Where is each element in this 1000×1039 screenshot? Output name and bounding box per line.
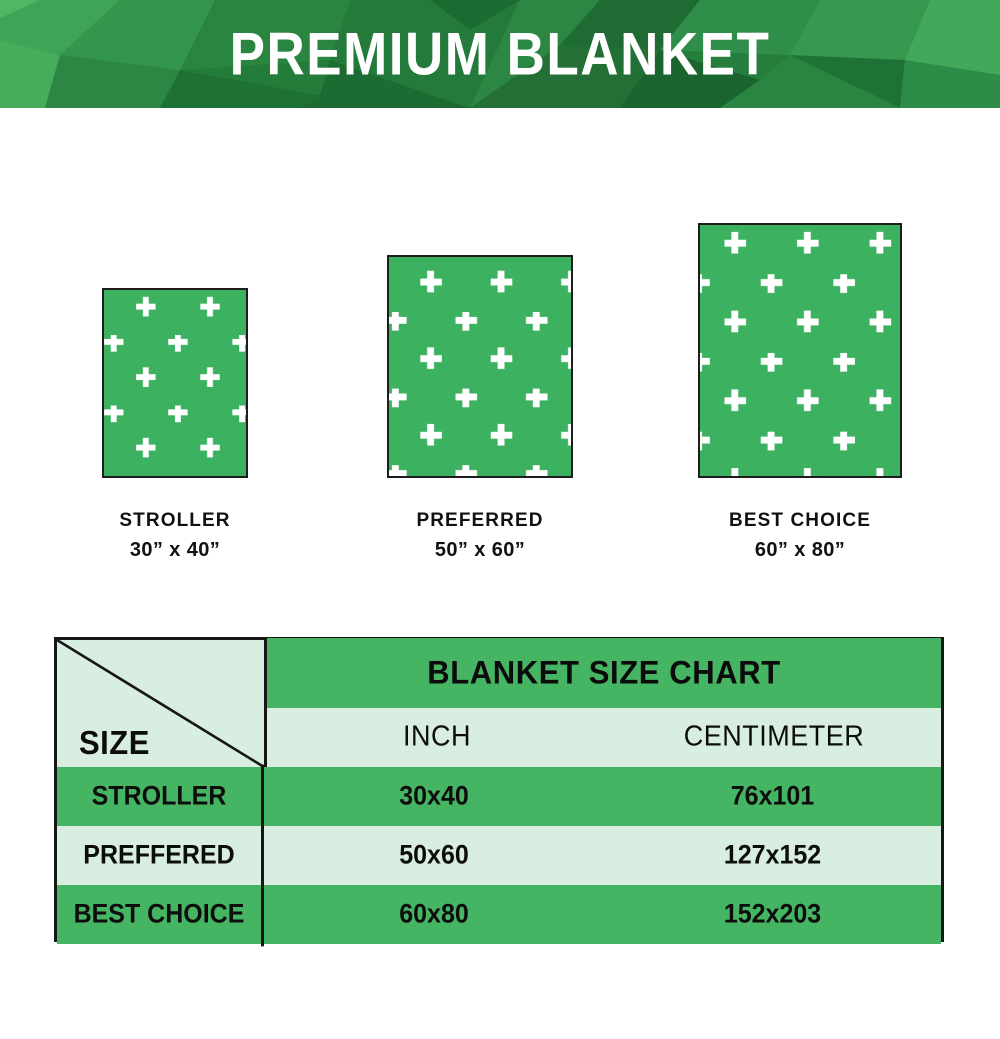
cell-cm-stroller: 76x101: [604, 765, 941, 829]
blanket-swatch-best-choice: [698, 223, 902, 478]
swatch-group-preferred: [387, 255, 573, 478]
table-corner-cell: SIZE: [57, 640, 267, 767]
swatch-name-best-choice: BEST CHOICE: [700, 508, 900, 534]
table-header-right: BLANKET SIZE CHART INCH CENTIMETER: [267, 640, 941, 767]
swatch-name-stroller: STROLLER: [75, 508, 275, 534]
swatch-dimensions-preferred: 50” x 60”: [380, 534, 580, 566]
cell-size-stroller: STROLLER: [57, 765, 264, 829]
table-row: STROLLER 30x40 76x101: [57, 767, 941, 826]
cell-cm-preffered: 127x152: [604, 824, 941, 888]
table-header-row: SIZE BLANKET SIZE CHART INCH CENTIMETER: [57, 640, 941, 767]
plus-pattern-icon: [700, 225, 900, 476]
cell-inch-stroller: 30x40: [264, 765, 604, 829]
cell-size-preffered: PREFFERED: [57, 824, 264, 888]
plus-pattern-icon: [104, 290, 246, 476]
swatch-dimensions-best-choice: 60” x 80”: [700, 534, 900, 566]
blanket-swatch-area: STROLLER 30” x 40”: [0, 108, 1000, 628]
plus-pattern-icon: [389, 257, 571, 476]
column-header-centimeter: CENTIMETER: [607, 704, 941, 768]
table-row: BEST CHOICE 60x80 152x203: [57, 885, 941, 944]
column-header-inch: INCH: [267, 704, 607, 768]
swatch-caption-preferred: PREFERRED 50” x 60”: [380, 508, 580, 566]
swatch-group-stroller: [102, 288, 248, 478]
swatch-caption-best-choice: BEST CHOICE 60” x 80”: [700, 508, 900, 566]
cell-cm-best-choice: 152x203: [604, 883, 941, 947]
table-unit-header-row: INCH CENTIMETER: [267, 706, 941, 767]
swatch-group-best-choice: [698, 223, 902, 478]
table-chart-title: BLANKET SIZE CHART: [267, 638, 941, 708]
page-title: PREMIUM BLANKET: [0, 0, 1000, 108]
table-corner-label: SIZE: [79, 724, 150, 763]
swatch-dimensions-stroller: 30” x 40”: [75, 534, 275, 566]
swatch-caption-stroller: STROLLER 30” x 40”: [75, 508, 275, 566]
cell-size-best-choice: BEST CHOICE: [57, 883, 264, 947]
header-banner: PREMIUM BLANKET: [0, 0, 1000, 108]
blanket-size-chart-table: SIZE BLANKET SIZE CHART INCH CENTIMETER …: [54, 637, 944, 942]
table-row: PREFFERED 50x60 127x152: [57, 826, 941, 885]
blanket-swatch-preferred: [387, 255, 573, 478]
blanket-swatch-stroller: [102, 288, 248, 478]
cell-inch-preffered: 50x60: [264, 824, 604, 888]
swatch-name-preferred: PREFERRED: [380, 508, 580, 534]
cell-inch-best-choice: 60x80: [264, 883, 604, 947]
